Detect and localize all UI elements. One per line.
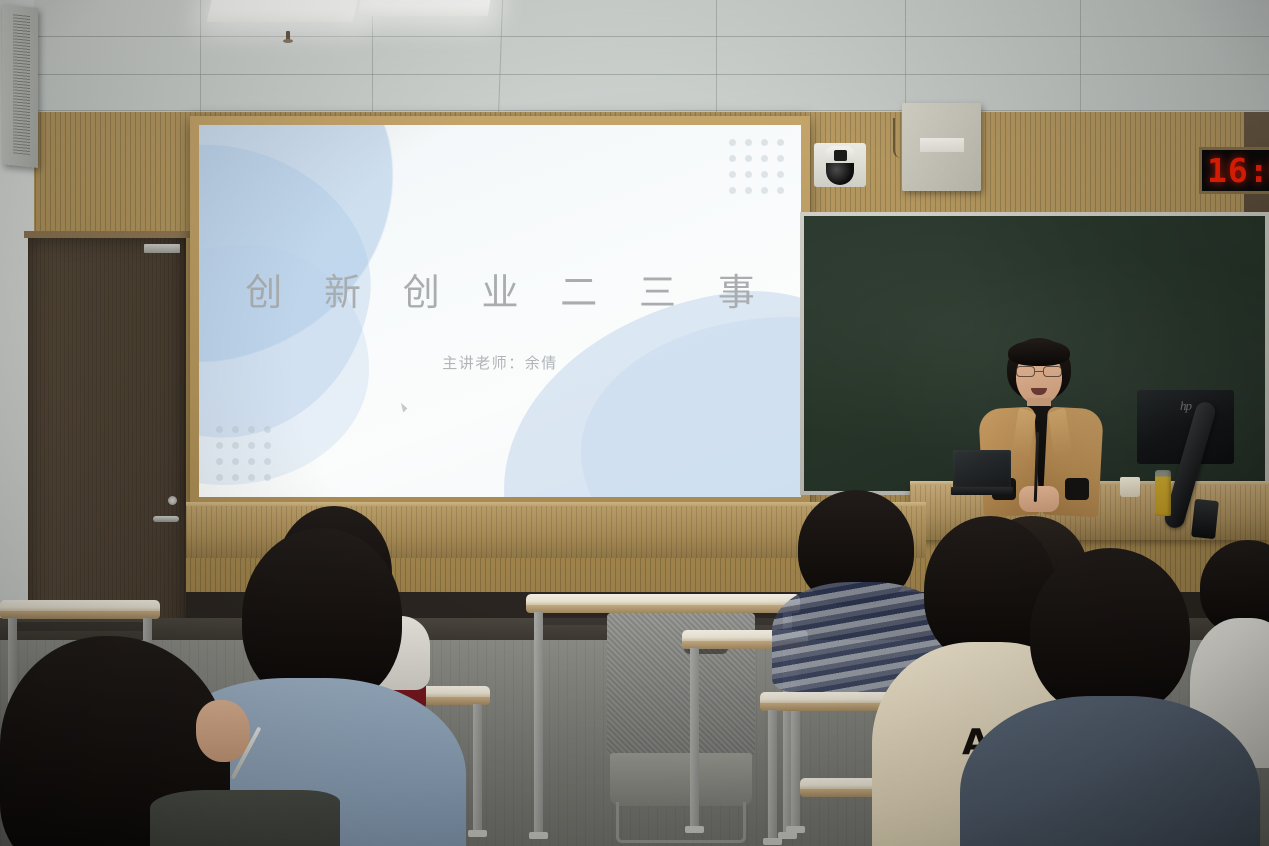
mouse-cursor-icon (401, 402, 408, 413)
classroom-photo: 创 新 创 业 二 三 事 主讲老师：余倩 16:0 hp (0, 0, 1269, 846)
ceiling-light-panel-2 (358, 0, 493, 16)
hp-logo-icon: hp (1180, 398, 1191, 414)
water-bottle (1155, 470, 1171, 516)
digital-wall-clock: 16:0 (1199, 147, 1269, 194)
student-grey-sleeve (150, 790, 340, 846)
fire-sprinkler-icon (283, 31, 293, 45)
lecturer-laptop[interactable] (951, 450, 1013, 496)
slide-dot-grid-top-right (729, 139, 784, 194)
glasses-icon (1015, 366, 1063, 377)
ceiling (0, 0, 1269, 118)
student-hand-holding-pen (196, 700, 250, 762)
door-handle-icon[interactable] (153, 516, 179, 522)
ptz-camera-icon (814, 143, 866, 187)
wall-control-box (902, 103, 981, 191)
wall-speaker (2, 4, 38, 168)
slide-title: 创 新 创 业 二 三 事 (199, 262, 801, 316)
door-sign-plate (144, 244, 180, 253)
ceiling-dome-camera-icon (402, 78, 432, 106)
projection-screen-frame: 创 新 创 业 二 三 事 主讲老师：余倩 (190, 116, 810, 506)
ceiling-light-panel (207, 0, 360, 22)
projected-slide[interactable]: 创 新 创 业 二 三 事 主讲老师：余倩 (199, 125, 801, 497)
slide-subtitle: 主讲老师：余倩 (199, 352, 801, 373)
slide-dot-grid-bottom-left (216, 426, 271, 481)
student-navy-sweater (960, 548, 1260, 846)
door-lock-icon[interactable] (168, 496, 177, 505)
clock-time: 16:0 (1207, 151, 1269, 190)
monitor-arm-clamp (1191, 499, 1219, 539)
paper-cup (1120, 477, 1140, 497)
